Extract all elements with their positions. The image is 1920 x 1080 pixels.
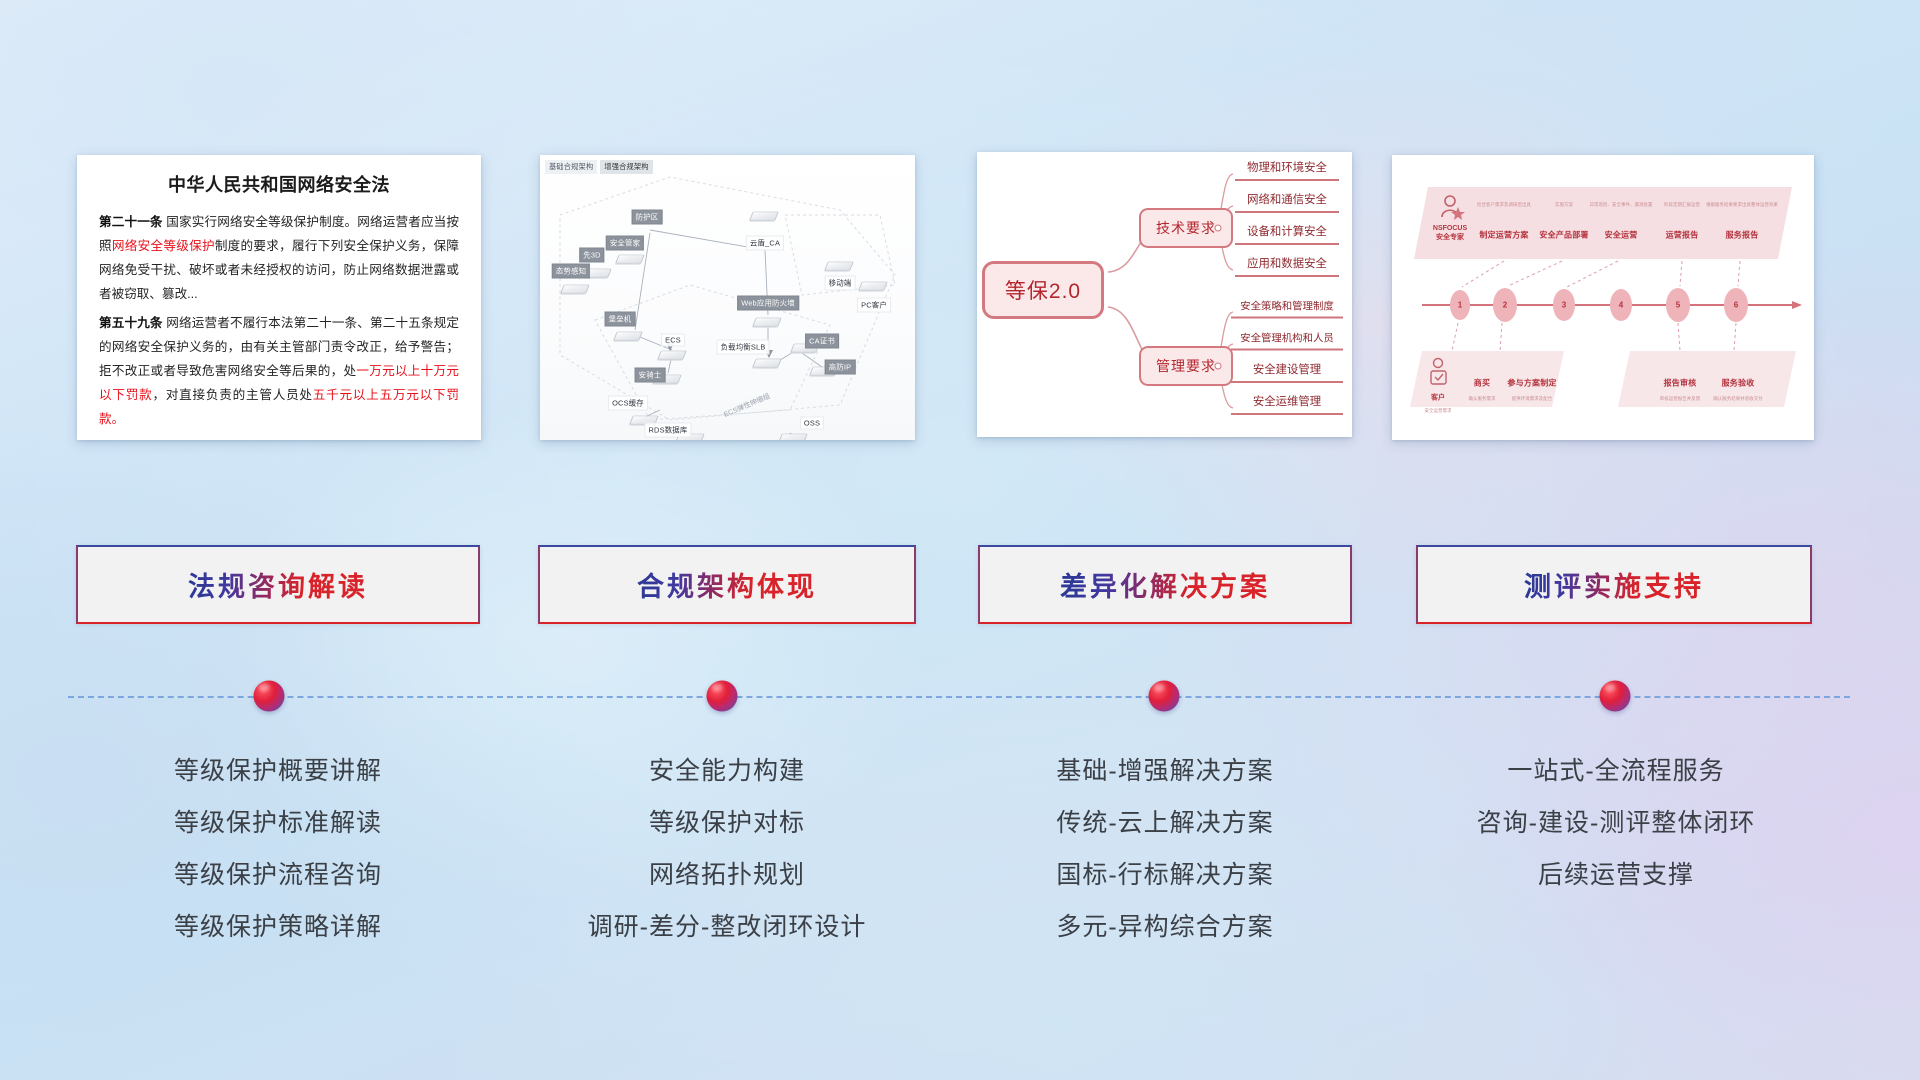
list-item: 等级保护策略详解 (76, 901, 480, 953)
list-item: 安全能力构建 (538, 745, 916, 797)
list-item: 一站式-全流程服务 (1410, 745, 1822, 797)
list-item: 等级保护标准解读 (76, 797, 480, 849)
detail-column-solution: 基础-增强解决方案 传统-云上解决方案 国标-行标解决方案 多元-异构综合方案 (978, 745, 1352, 953)
list-item: 传统-云上解决方案 (978, 797, 1352, 849)
list-item: 等级保护对标 (538, 797, 916, 849)
list-item: 咨询-建设-测评整体闭环 (1410, 797, 1822, 849)
list-item: 后续运营支撑 (1410, 849, 1822, 901)
list-item: 调研-差分-整改闭环设计 (538, 901, 916, 953)
detail-columns: 等级保护概要讲解 等级保护标准解读 等级保护流程咨询 等级保护策略详解 安全能力… (0, 0, 1920, 1080)
list-item: 等级保护概要讲解 (76, 745, 480, 797)
list-item: 等级保护流程咨询 (76, 849, 480, 901)
list-item: 基础-增强解决方案 (978, 745, 1352, 797)
list-item: 多元-异构综合方案 (978, 901, 1352, 953)
detail-column-regulation: 等级保护概要讲解 等级保护标准解读 等级保护流程咨询 等级保护策略详解 (76, 745, 480, 953)
detail-column-architecture: 安全能力构建 等级保护对标 网络拓扑规划 调研-差分-整改闭环设计 (538, 745, 916, 953)
detail-column-evaluation: 一站式-全流程服务 咨询-建设-测评整体闭环 后续运营支撑 (1410, 745, 1822, 901)
list-item: 国标-行标解决方案 (978, 849, 1352, 901)
list-item: 网络拓扑规划 (538, 849, 916, 901)
